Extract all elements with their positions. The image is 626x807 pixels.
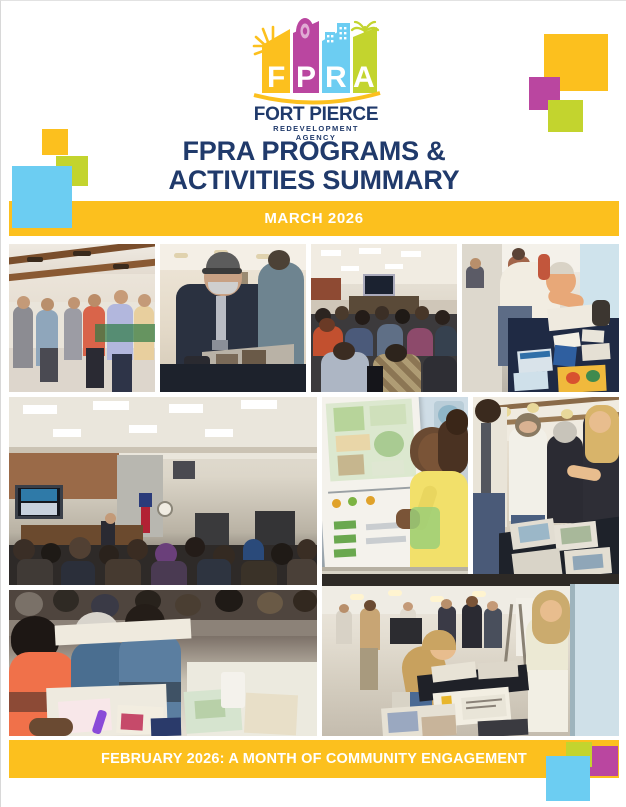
collage-photo-7 (473, 397, 619, 585)
fpra-logo-mark: F P R A (246, 15, 386, 107)
logo-subtitle-line1: REDEVELOPMENT (246, 124, 386, 133)
collage-photo-1 (9, 244, 155, 392)
page-title-line2: ACTIVITIES SUMMARY (1, 166, 626, 195)
footer-banner-label: FEBRUARY 2026: A MONTH OF COMMUNITY ENGA… (9, 751, 619, 767)
collage-photo-4 (462, 244, 619, 392)
month-band-label: MARCH 2026 (9, 210, 619, 227)
footer-banner: FEBRUARY 2026: A MONTH OF COMMUNITY ENGA… (9, 740, 619, 778)
logo-arc (254, 93, 380, 103)
collage-photo-8 (9, 590, 317, 736)
collage-photo-6 (322, 397, 468, 585)
collage-photo-2 (160, 244, 306, 392)
logo-letter-p: P (296, 61, 316, 94)
collage-photo-3 (311, 244, 457, 392)
photo-collage (9, 244, 619, 736)
month-band: MARCH 2026 (9, 201, 619, 236)
newsletter-cover-page: F P R A FORT PIERCE REDEVELOPMENT AGENCY… (0, 0, 626, 807)
logo-organization-name: FORT PIERCE (246, 105, 386, 124)
collage-photo-9 (322, 574, 619, 736)
logo-letter-a: A (353, 61, 375, 94)
page-title-line1: FPRA PROGRAMS & (1, 137, 626, 166)
collage-photo-5 (9, 397, 317, 585)
fpra-logo: F P R A FORT PIERCE REDEVELOPMENT AGENCY (246, 15, 386, 133)
deco-square-bottom-magenta (589, 746, 618, 776)
deco-square-top-right-green (548, 100, 583, 132)
logo-letter-r: R (325, 61, 347, 94)
deco-square-bottom-blue (546, 756, 590, 801)
logo-letter-f: F (267, 61, 285, 94)
page-title: FPRA PROGRAMS & ACTIVITIES SUMMARY (1, 137, 626, 195)
